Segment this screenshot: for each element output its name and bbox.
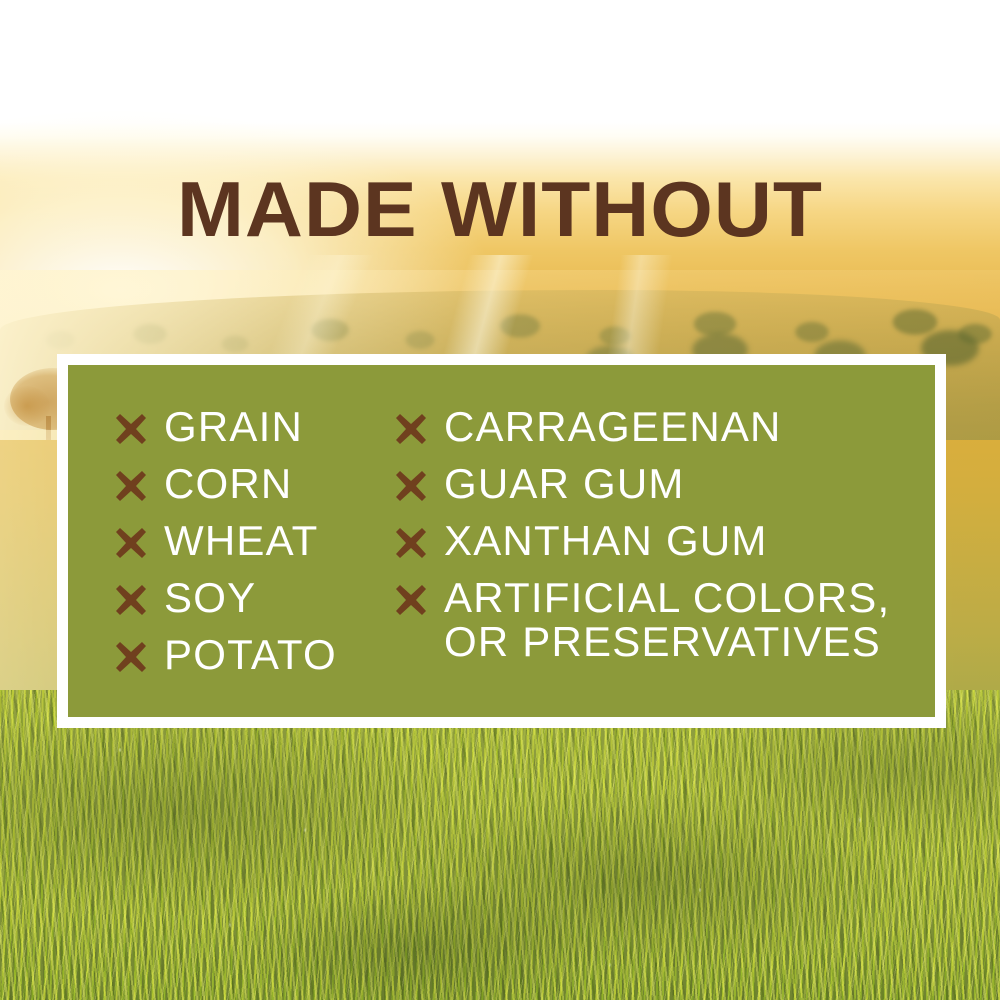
page-title: MADE WITHOUT bbox=[0, 168, 1000, 250]
list-item: ARTIFICIAL COLORS, OR PRESERVATIVES bbox=[395, 576, 935, 664]
list-item: SOY bbox=[115, 576, 388, 620]
list-item: CORN bbox=[115, 462, 388, 506]
list-item-label: XANTHAN GUM bbox=[444, 519, 768, 563]
x-mark-icon bbox=[395, 405, 427, 449]
x-mark-icon bbox=[395, 576, 427, 620]
made-without-panel: GRAIN CORN WHEAT bbox=[57, 354, 946, 728]
x-mark-icon bbox=[115, 633, 147, 677]
list-item-label: SOY bbox=[164, 576, 256, 620]
excluded-ingredients-column-right: CARRAGEENAN GUAR GUM bbox=[388, 405, 935, 664]
x-mark-icon bbox=[395, 462, 427, 506]
x-mark-icon bbox=[115, 576, 147, 620]
list-item-label: WHEAT bbox=[164, 519, 319, 563]
panel-inner: GRAIN CORN WHEAT bbox=[68, 365, 935, 717]
list-item-label: POTATO bbox=[164, 633, 337, 677]
list-item: POTATO bbox=[115, 633, 388, 677]
x-mark-icon bbox=[115, 405, 147, 449]
tree-canopy-secondary bbox=[4, 386, 50, 426]
x-mark-icon bbox=[115, 519, 147, 563]
list-item-label: GUAR GUM bbox=[444, 462, 685, 506]
x-mark-icon bbox=[395, 519, 427, 563]
list-item: XANTHAN GUM bbox=[395, 519, 935, 563]
x-mark-icon bbox=[115, 462, 147, 506]
list-item: GRAIN bbox=[115, 405, 388, 449]
tall-grass-foreground bbox=[0, 690, 1000, 1000]
list-item: WHEAT bbox=[115, 519, 388, 563]
grass-highlights bbox=[0, 690, 1000, 1000]
list-item-label: ARTIFICIAL COLORS, OR PRESERVATIVES bbox=[444, 576, 890, 664]
excluded-ingredients-column-left: GRAIN CORN WHEAT bbox=[68, 405, 388, 677]
list-item-label: CARRAGEENAN bbox=[444, 405, 782, 449]
product-claim-graphic: MADE WITHOUT GRAIN bbox=[0, 0, 1000, 1000]
list-item-label: GRAIN bbox=[164, 405, 303, 449]
list-item: CARRAGEENAN bbox=[395, 405, 935, 449]
list-item: GUAR GUM bbox=[395, 462, 935, 506]
list-item-label: CORN bbox=[164, 462, 292, 506]
